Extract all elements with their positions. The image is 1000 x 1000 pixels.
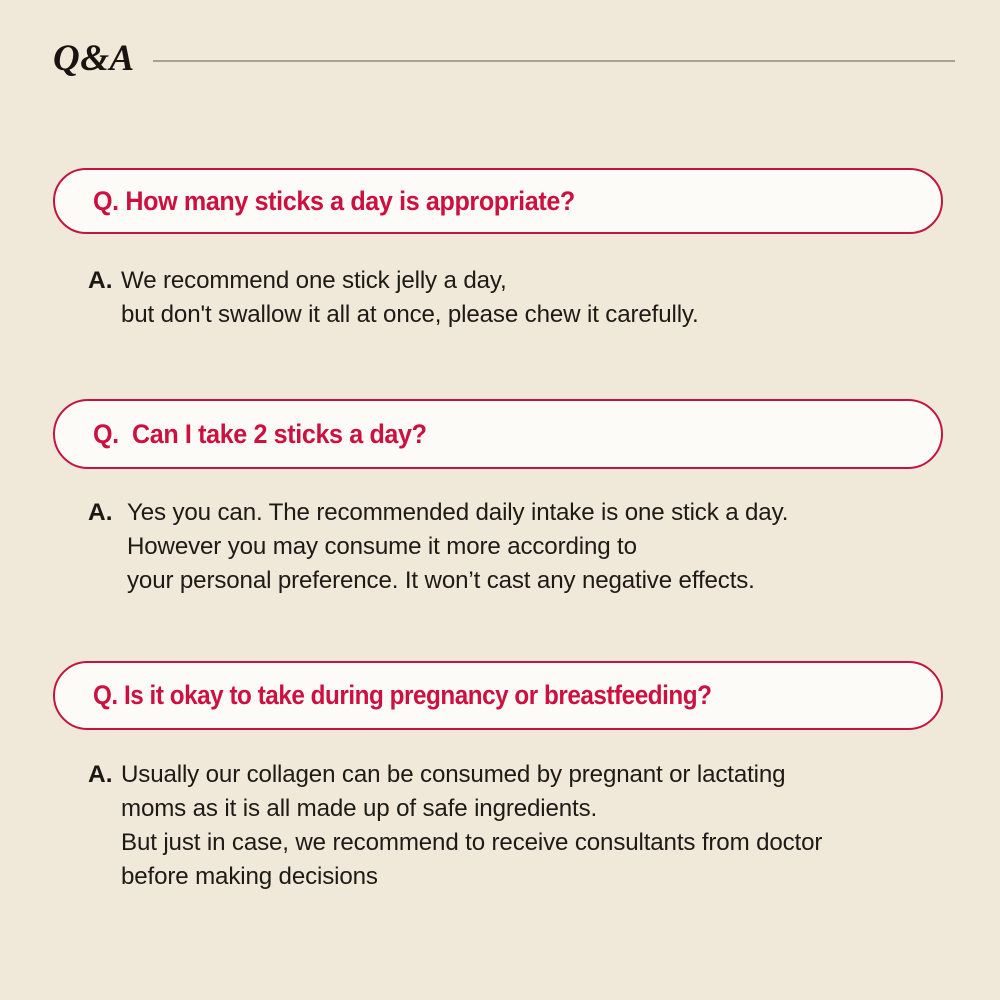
qa-item: Q. How many sticks a day is appropriate?… — [0, 168, 1000, 332]
answer-block: A. Yes you can. The recommended daily in… — [88, 496, 948, 598]
answer-line: Yes you can. The recommended daily intak… — [127, 496, 936, 530]
answer-line: before making decisions — [121, 860, 936, 894]
answer-body: Yes you can. The recommended daily intak… — [113, 496, 949, 598]
page-header: Q&A — [53, 32, 955, 86]
page-title: Q&A — [53, 40, 135, 79]
answer-marker: A. — [88, 496, 113, 530]
answer-block: A. We recommend one stick jelly a day, b… — [88, 264, 948, 332]
answer-body: Usually our collagen can be consumed by … — [113, 758, 949, 894]
answer-block: A. Usually our collagen can be consumed … — [88, 758, 948, 894]
question-pill[interactable]: Q. How many sticks a day is appropriate? — [53, 168, 943, 234]
answer-line: But just in case, we recommend to receiv… — [121, 826, 936, 860]
answer-line: your personal preference. It won’t cast … — [127, 564, 936, 598]
qa-page: Q&A Q. How many sticks a day is appropri… — [0, 0, 1000, 1000]
question-text: Q. How many sticks a day is appropriate? — [93, 188, 575, 215]
qa-item: Q. Can I take 2 sticks a day? A. Yes you… — [0, 399, 1000, 598]
answer-marker: A. — [88, 758, 113, 792]
question-text: Q. Is it okay to take during pregnancy o… — [93, 682, 711, 709]
answer-line: Usually our collagen can be consumed by … — [121, 758, 936, 792]
answer-body: We recommend one stick jelly a day, but … — [113, 264, 949, 332]
answer-line: However you may consume it more accordin… — [127, 530, 936, 564]
answer-line: We recommend one stick jelly a day, — [121, 264, 936, 298]
answer-line: but don't swallow it all at once, please… — [121, 298, 936, 332]
question-pill[interactable]: Q. Can I take 2 sticks a day? — [53, 399, 943, 469]
answer-line: moms as it is all made up of safe ingred… — [121, 792, 936, 826]
qa-item: Q. Is it okay to take during pregnancy o… — [0, 661, 1000, 894]
header-divider — [153, 60, 955, 62]
question-text: Q. Can I take 2 sticks a day? — [93, 421, 427, 448]
answer-marker: A. — [88, 264, 113, 298]
question-pill[interactable]: Q. Is it okay to take during pregnancy o… — [53, 661, 943, 730]
